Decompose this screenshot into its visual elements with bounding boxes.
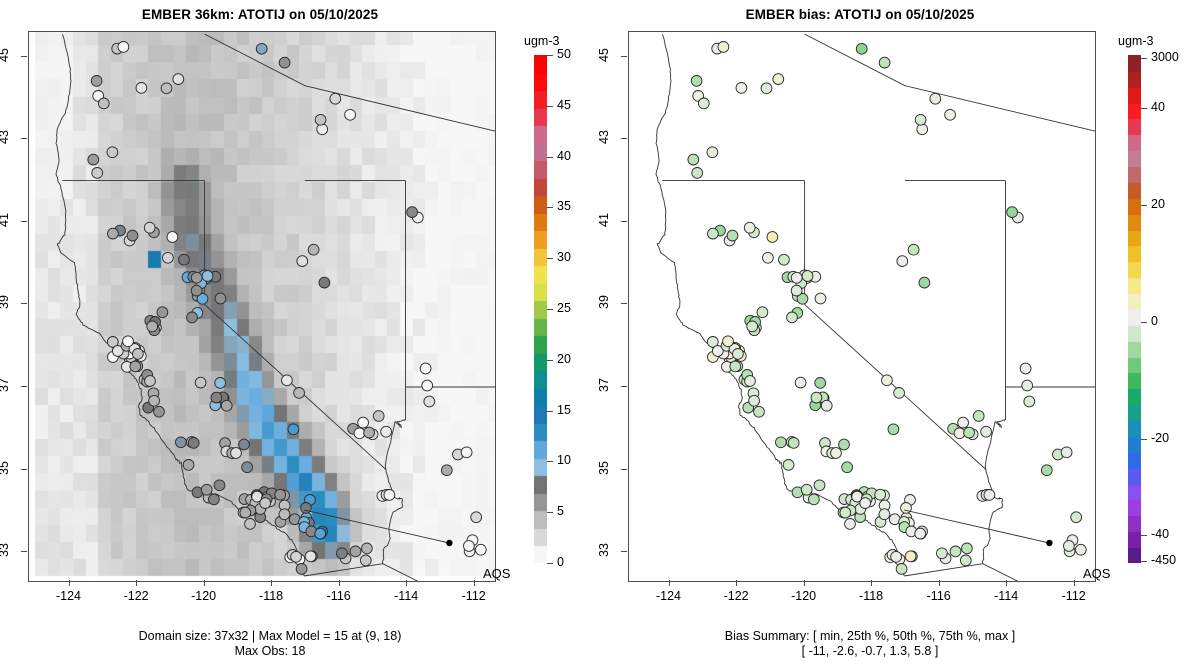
aqs-station-marker[interactable] xyxy=(118,42,129,53)
aqs-station-marker[interactable] xyxy=(860,498,871,509)
x-axis-tick-label: -114 xyxy=(976,589,1036,603)
aqs-station-marker[interactable] xyxy=(91,76,102,87)
y-axis-tick xyxy=(21,138,27,139)
aqs-station-marker[interactable] xyxy=(773,74,784,85)
left-caption-line1: Domain size: 37x32 | Max Model = 15 at (… xyxy=(10,629,530,644)
panel-model-concentration: EMBER 36km: ATOTIJ on 05/10/2025 -124-12… xyxy=(0,0,600,672)
colorbar-tick xyxy=(547,207,553,208)
colorbar-tick-label: -40 xyxy=(1151,527,1169,541)
aqs-station-marker[interactable] xyxy=(88,154,99,165)
aqs-station-marker[interactable] xyxy=(802,271,813,282)
aqs-station-marker[interactable] xyxy=(145,376,156,387)
aqs-station-marker[interactable] xyxy=(919,277,930,288)
aqs-station-marker[interactable] xyxy=(761,83,772,94)
aqs-station-marker[interactable] xyxy=(215,293,226,304)
aqs-station-marker[interactable] xyxy=(471,512,482,523)
aqs-station-marker[interactable] xyxy=(736,83,747,94)
aqs-station-marker[interactable] xyxy=(221,400,232,411)
aqs-station-marker[interactable] xyxy=(905,551,916,562)
x-axis-tick-label: -114 xyxy=(376,589,436,603)
aqs-legend-connector xyxy=(304,510,449,543)
y-axis-tick-label: 35 xyxy=(597,456,611,480)
y-axis-tick xyxy=(21,303,27,304)
x-axis-tick xyxy=(804,580,805,586)
aqs-station-marker[interactable] xyxy=(305,551,316,562)
aqs-station-marker[interactable] xyxy=(315,114,326,125)
aqs-station-marker[interactable] xyxy=(239,439,250,450)
map-boundary-line xyxy=(983,469,1003,563)
colorbar-tick xyxy=(547,309,553,310)
colorbar-tick xyxy=(1141,108,1147,109)
aqs-station-marker[interactable] xyxy=(282,375,293,386)
aqs-station-marker[interactable] xyxy=(814,480,825,491)
aqs-station-marker[interactable] xyxy=(815,378,826,389)
aqs-station-marker[interactable] xyxy=(407,207,418,218)
aqs-station-marker[interactable] xyxy=(791,285,802,296)
aqs-station-marker[interactable] xyxy=(107,147,118,158)
aqs-station-marker[interactable] xyxy=(960,555,971,566)
x-axis-tick xyxy=(669,580,670,586)
aqs-station-marker[interactable] xyxy=(297,256,308,267)
aqs-legend-dot xyxy=(1046,540,1052,546)
aqs-station-marker[interactable] xyxy=(718,42,729,53)
aqs-station-marker[interactable] xyxy=(915,114,926,125)
aqs-station-marker[interactable] xyxy=(279,509,290,520)
right-colorbar-units: ugm-3 xyxy=(1118,34,1153,48)
x-axis-tick xyxy=(406,580,407,586)
aqs-station-marker[interactable] xyxy=(191,272,202,283)
aqs-station-marker[interactable] xyxy=(345,109,356,120)
aqs-station-marker[interactable] xyxy=(984,490,995,501)
y-axis-tick-label: 45 xyxy=(0,43,11,67)
colorbar-tick xyxy=(1141,561,1147,562)
aqs-station-marker[interactable] xyxy=(945,109,956,120)
aqs-station-marker[interactable] xyxy=(964,427,975,438)
aqs-station-marker[interactable] xyxy=(787,312,798,323)
figure-root: EMBER 36km: ATOTIJ on 05/10/2025 -124-12… xyxy=(0,0,1200,672)
aqs-station-marker[interactable] xyxy=(1064,541,1075,552)
y-axis-tick xyxy=(621,551,627,552)
right-colorbar-gradient xyxy=(1128,55,1141,563)
aqs-station-marker[interactable] xyxy=(1022,380,1033,391)
aqs-station-marker[interactable] xyxy=(879,509,890,520)
left-aqs-legend-label: AQS xyxy=(483,566,510,581)
aqs-station-marker[interactable] xyxy=(954,428,965,439)
colorbar-tick xyxy=(547,360,553,361)
y-axis-tick-label: 33 xyxy=(0,538,11,562)
x-axis-tick-label: -112 xyxy=(1044,589,1104,603)
y-axis-tick-label: 45 xyxy=(597,43,611,67)
colorbar-tick xyxy=(547,411,553,412)
aqs-station-marker[interactable] xyxy=(130,361,141,372)
aqs-station-marker[interactable] xyxy=(973,411,984,422)
aqs-station-marker[interactable] xyxy=(373,411,384,422)
colorbar-tick-label: 20 xyxy=(557,352,571,366)
colorbar-tick xyxy=(1141,58,1147,59)
aqs-station-marker[interactable] xyxy=(133,349,144,360)
aqs-station-marker[interactable] xyxy=(214,480,225,491)
aqs-station-marker[interactable] xyxy=(763,252,774,263)
aqs-station-marker[interactable] xyxy=(1041,465,1052,476)
aqs-station-marker[interactable] xyxy=(821,400,832,411)
colorbar-tick-label: 5 xyxy=(557,504,564,518)
aqs-station-marker[interactable] xyxy=(1007,207,1018,218)
aqs-station-marker[interactable] xyxy=(692,168,703,179)
aqs-station-marker[interactable] xyxy=(183,460,194,471)
x-axis-tick xyxy=(939,580,940,586)
colorbar-tick xyxy=(1141,535,1147,536)
aqs-station-marker[interactable] xyxy=(147,321,158,332)
aqs-station-marker[interactable] xyxy=(930,93,941,104)
right-map-plot-area[interactable] xyxy=(628,31,1096,582)
y-axis-tick-label: 33 xyxy=(597,538,611,562)
aqs-station-marker[interactable] xyxy=(708,228,719,239)
aqs-station-marker[interactable] xyxy=(202,271,213,282)
colorbar-tick-label: 40 xyxy=(1151,100,1165,114)
aqs-station-marker[interactable] xyxy=(791,272,802,283)
y-axis-tick xyxy=(621,138,627,139)
map-boundary-line xyxy=(205,304,386,469)
aqs-station-marker[interactable] xyxy=(882,375,893,386)
map-boundary-line xyxy=(904,564,1095,581)
aqs-station-marker[interactable] xyxy=(795,377,806,388)
aqs-station-marker[interactable] xyxy=(381,426,392,437)
aqs-station-marker[interactable] xyxy=(707,147,718,158)
y-axis-tick xyxy=(21,56,27,57)
colorbar-tick-label: 50 xyxy=(557,47,571,61)
aqs-station-marker[interactable] xyxy=(315,528,326,539)
colorbar-tick xyxy=(547,563,553,564)
aqs-station-marker[interactable] xyxy=(815,293,826,304)
x-axis-tick xyxy=(136,580,137,586)
aqs-station-marker[interactable] xyxy=(1071,512,1082,523)
colorbar-tick xyxy=(547,157,553,158)
aqs-station-marker[interactable] xyxy=(811,392,822,403)
aqs-station-marker[interactable] xyxy=(891,551,902,562)
aqs-station-marker[interactable] xyxy=(879,57,890,68)
aqs-station-marker[interactable] xyxy=(308,244,319,255)
aqs-station-marker[interactable] xyxy=(163,252,174,263)
colorbar-tick-label: 15 xyxy=(557,403,571,417)
colorbar-tick xyxy=(547,461,553,462)
aqs-station-marker[interactable] xyxy=(475,544,486,555)
aqs-station-marker[interactable] xyxy=(188,438,199,449)
colorbar-tick-label: 25 xyxy=(557,301,571,315)
x-axis-tick-label: -118 xyxy=(241,589,301,603)
aqs-station-marker[interactable] xyxy=(842,462,853,473)
colorbar-tick xyxy=(547,512,553,513)
aqs-station-marker[interactable] xyxy=(360,555,371,566)
aqs-station-marker[interactable] xyxy=(319,277,330,288)
aqs-station-marker[interactable] xyxy=(215,378,226,389)
aqs-station-marker[interactable] xyxy=(779,254,790,265)
right-aqs-legend-label: AQS xyxy=(1083,566,1110,581)
aqs-station-marker[interactable] xyxy=(839,439,850,450)
aqs-station-marker[interactable] xyxy=(908,244,919,255)
colorbar-tick-label: 10 xyxy=(557,453,571,467)
aqs-station-marker[interactable] xyxy=(364,427,375,438)
aqs-station-marker[interactable] xyxy=(788,438,799,449)
x-axis-tick xyxy=(1074,580,1075,586)
right-panel-title: EMBER bias: ATOTIJ on 05/10/2025 xyxy=(600,7,1120,22)
colorbar-tick-label: -450 xyxy=(1151,553,1176,567)
aqs-station-marker[interactable] xyxy=(161,83,172,94)
colorbar-tick-label: 40 xyxy=(557,149,571,163)
y-axis-tick xyxy=(621,303,627,304)
aqs-station-marker[interactable] xyxy=(127,230,138,241)
map-boundary-line xyxy=(805,304,986,469)
aqs-station-marker[interactable] xyxy=(1024,396,1035,407)
aqs-station-marker[interactable] xyxy=(896,564,907,575)
x-axis-tick xyxy=(736,580,737,586)
aqs-station-marker[interactable] xyxy=(698,98,709,109)
aqs-station-marker[interactable] xyxy=(831,448,842,459)
x-axis-tick-label: -124 xyxy=(39,589,99,603)
aqs-station-marker[interactable] xyxy=(950,546,961,557)
aqs-station-marker[interactable] xyxy=(1075,544,1086,555)
y-axis-tick xyxy=(621,221,627,222)
x-axis-tick xyxy=(474,580,475,586)
aqs-station-marker[interactable] xyxy=(195,377,206,388)
left-panel-title: EMBER 36km: ATOTIJ on 05/10/2025 xyxy=(0,7,520,22)
aqs-station-marker[interactable] xyxy=(384,490,395,501)
aqs-station-marker[interactable] xyxy=(875,489,886,500)
aqs-station-marker[interactable] xyxy=(231,448,242,459)
aqs-station-marker[interactable] xyxy=(937,548,948,559)
y-axis-tick-label: 41 xyxy=(0,208,11,232)
y-axis-tick-label: 41 xyxy=(597,208,611,232)
aqs-station-marker[interactable] xyxy=(330,93,341,104)
aqs-station-marker[interactable] xyxy=(187,312,198,323)
colorbar-tick-label: 45 xyxy=(557,98,571,112)
aqs-station-marker[interactable] xyxy=(917,124,928,135)
aqs-legend-dot xyxy=(446,540,452,546)
aqs-station-marker[interactable] xyxy=(747,321,758,332)
aqs-station-marker[interactable] xyxy=(757,307,768,318)
x-axis-tick-label: -122 xyxy=(706,589,766,603)
aqs-station-marker[interactable] xyxy=(350,546,361,557)
y-axis-tick xyxy=(621,386,627,387)
aqs-station-marker[interactable] xyxy=(441,465,452,476)
x-axis-tick xyxy=(339,580,340,586)
y-axis-tick xyxy=(21,551,27,552)
aqs-station-marker[interactable] xyxy=(317,124,328,135)
colorbar-tick xyxy=(547,258,553,259)
x-axis-tick-label: -118 xyxy=(841,589,901,603)
aqs-station-marker[interactable] xyxy=(888,424,899,435)
y-axis-tick xyxy=(21,221,27,222)
y-axis-tick xyxy=(621,56,627,57)
aqs-station-marker[interactable] xyxy=(745,376,756,387)
y-axis-tick-label: 39 xyxy=(0,290,11,314)
aqs-station-marker[interactable] xyxy=(856,43,867,54)
y-axis-tick-label: 37 xyxy=(597,373,611,397)
y-axis-tick-label: 39 xyxy=(597,290,611,314)
x-axis-tick-label: -116 xyxy=(909,589,969,603)
colorbar-tick xyxy=(547,106,553,107)
right-map-vectors xyxy=(629,32,1095,581)
aqs-station-marker[interactable] xyxy=(209,494,220,505)
y-axis-tick-label: 35 xyxy=(0,456,11,480)
x-axis-tick-label: -116 xyxy=(309,589,369,603)
colorbar-tick xyxy=(1141,205,1147,206)
left-caption-line2: Max Obs: 18 xyxy=(10,644,530,659)
aqs-station-marker[interactable] xyxy=(191,285,202,296)
colorbar-tick-label: 0 xyxy=(1151,314,1158,328)
aqs-station-marker[interactable] xyxy=(240,507,251,518)
aqs-station-marker[interactable] xyxy=(354,428,365,439)
aqs-station-marker[interactable] xyxy=(733,349,744,360)
aqs-station-marker[interactable] xyxy=(420,363,431,374)
right-caption-line1: Bias Summary: [ min, 25th %, 50th %, 75t… xyxy=(610,629,1130,644)
y-axis-tick-label: 43 xyxy=(597,125,611,149)
colorbar-tick-label: -20 xyxy=(1151,431,1169,445)
aqs-station-marker[interactable] xyxy=(294,388,305,399)
aqs-station-marker[interactable] xyxy=(179,254,190,265)
aqs-station-marker[interactable] xyxy=(1020,363,1031,374)
aqs-station-marker[interactable] xyxy=(461,447,472,458)
x-axis-tick-label: -112 xyxy=(444,589,504,603)
aqs-station-marker[interactable] xyxy=(260,498,271,509)
aqs-station-marker[interactable] xyxy=(242,462,253,473)
panel-bias: EMBER bias: ATOTIJ on 05/10/2025 -124-12… xyxy=(600,0,1200,672)
left-colorbar-gradient xyxy=(534,55,547,563)
colorbar-tick-label: 3000 xyxy=(1151,50,1179,64)
aqs-station-marker[interactable] xyxy=(749,395,760,406)
aqs-station-marker[interactable] xyxy=(727,230,738,241)
y-axis-tick-label: 37 xyxy=(0,373,11,397)
aqs-station-marker[interactable] xyxy=(894,388,905,399)
aqs-station-marker[interactable] xyxy=(256,43,267,54)
aqs-station-marker[interactable] xyxy=(358,417,369,428)
aqs-station-marker[interactable] xyxy=(691,76,702,87)
aqs-station-marker[interactable] xyxy=(201,484,212,495)
x-axis-tick xyxy=(271,580,272,586)
aqs-station-marker[interactable] xyxy=(275,489,286,500)
aqs-station-marker[interactable] xyxy=(154,406,165,417)
aqs-station-marker[interactable] xyxy=(809,494,820,505)
colorbar-tick xyxy=(1141,439,1147,440)
aqs-station-marker[interactable] xyxy=(176,437,187,448)
left-colorbar-units: ugm-3 xyxy=(524,34,559,48)
aqs-legend-connector xyxy=(904,510,1049,543)
right-caption-line2: [ -11, -2.6, -0.7, 1.3, 5.8 ] xyxy=(610,644,1130,659)
aqs-station-marker[interactable] xyxy=(688,154,699,165)
aqs-station-marker[interactable] xyxy=(962,543,973,554)
x-axis-tick-label: -124 xyxy=(639,589,699,603)
x-axis-tick xyxy=(69,580,70,586)
left-map-vectors xyxy=(29,32,495,581)
aqs-station-marker[interactable] xyxy=(337,548,348,559)
aqs-station-marker[interactable] xyxy=(754,406,765,417)
aqs-station-marker[interactable] xyxy=(958,417,969,428)
aqs-station-marker[interactable] xyxy=(157,307,168,318)
y-axis-tick xyxy=(621,469,627,470)
aqs-station-marker[interactable] xyxy=(1061,447,1072,458)
aqs-station-marker[interactable] xyxy=(144,222,155,233)
map-boundary-line xyxy=(304,564,495,581)
aqs-station-marker[interactable] xyxy=(291,551,302,562)
aqs-station-marker[interactable] xyxy=(464,541,475,552)
aqs-station-marker[interactable] xyxy=(149,395,160,406)
colorbar-tick-label: 35 xyxy=(557,199,571,213)
aqs-station-marker[interactable] xyxy=(123,336,134,347)
colorbar-tick-label: 0 xyxy=(557,555,564,569)
aqs-station-marker[interactable] xyxy=(108,228,119,239)
x-axis-tick-label: -122 xyxy=(106,589,166,603)
aqs-station-marker[interactable] xyxy=(136,83,147,94)
y-axis-tick xyxy=(21,469,27,470)
x-axis-tick xyxy=(871,580,872,586)
aqs-station-marker[interactable] xyxy=(783,460,794,471)
aqs-station-marker[interactable] xyxy=(167,232,178,243)
y-axis-tick xyxy=(21,386,27,387)
aqs-station-marker[interactable] xyxy=(296,564,307,575)
x-axis-tick xyxy=(1006,580,1007,586)
aqs-station-marker[interactable] xyxy=(98,98,109,109)
aqs-station-marker[interactable] xyxy=(362,543,373,554)
aqs-station-marker[interactable] xyxy=(981,426,992,437)
left-map-plot-area[interactable] xyxy=(28,31,496,582)
aqs-station-marker[interactable] xyxy=(744,222,755,233)
aqs-station-marker[interactable] xyxy=(776,437,787,448)
aqs-station-marker[interactable] xyxy=(211,392,222,403)
aqs-station-marker[interactable] xyxy=(288,424,299,435)
aqs-station-marker[interactable] xyxy=(845,519,856,530)
aqs-station-marker[interactable] xyxy=(92,168,103,179)
aqs-station-marker[interactable] xyxy=(173,74,184,85)
aqs-station-marker[interactable] xyxy=(915,528,926,539)
colorbar-tick-label: 30 xyxy=(557,250,571,264)
aqs-station-marker[interactable] xyxy=(897,256,908,267)
x-axis-tick-label: -120 xyxy=(174,589,234,603)
aqs-station-marker[interactable] xyxy=(422,380,433,391)
x-axis-tick xyxy=(204,580,205,586)
colorbar-tick xyxy=(547,55,553,56)
x-axis-tick-label: -120 xyxy=(774,589,834,603)
aqs-station-marker[interactable] xyxy=(840,507,851,518)
aqs-station-marker[interactable] xyxy=(723,336,734,347)
aqs-station-marker[interactable] xyxy=(730,361,741,372)
colorbar-tick-label: 20 xyxy=(1151,197,1165,211)
aqs-station-marker[interactable] xyxy=(424,396,435,407)
y-axis-tick-label: 43 xyxy=(0,125,11,149)
aqs-station-marker[interactable] xyxy=(767,232,778,243)
aqs-station-marker[interactable] xyxy=(245,519,256,530)
map-boundary-line xyxy=(383,469,403,563)
aqs-station-marker[interactable] xyxy=(279,57,290,68)
colorbar-tick xyxy=(1141,322,1147,323)
aqs-station-marker[interactable] xyxy=(801,484,812,495)
